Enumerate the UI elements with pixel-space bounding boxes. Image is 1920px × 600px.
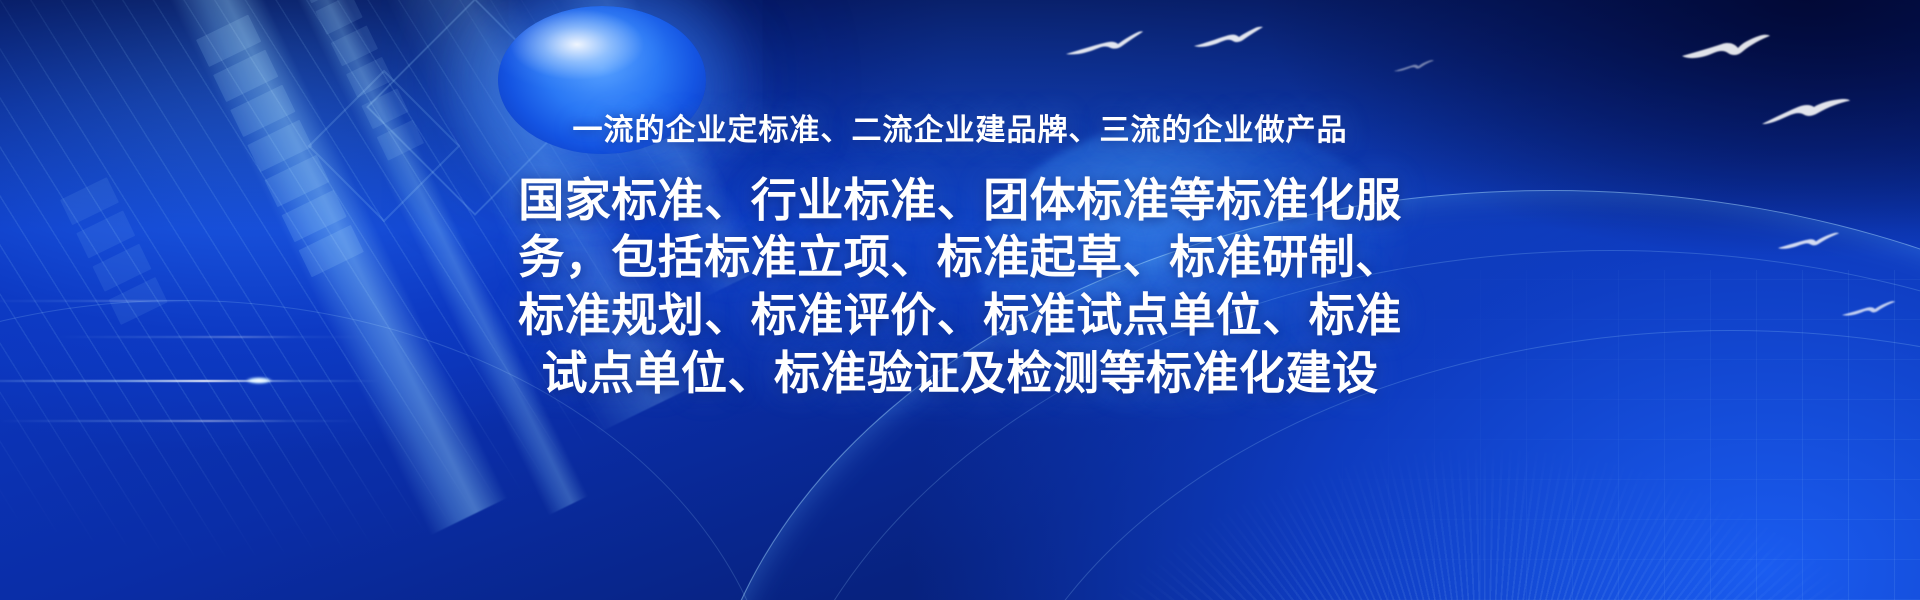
banner-text-block: 一流的企业定标准、二流企业建品牌、三流的企业做产品 国家标准、行业标准、团体标准… [0, 0, 1920, 600]
promo-banner: 一流的企业定标准、二流企业建品牌、三流的企业做产品 国家标准、行业标准、团体标准… [0, 0, 1920, 600]
subhead-text: 国家标准、行业标准、团体标准等标准化服 务，包括标准立项、标准起草、标准研制、 … [440, 172, 1480, 404]
headline-text: 一流的企业定标准、二流企业建品牌、三流的企业做产品 [573, 112, 1348, 150]
subhead-line: 标准规划、标准评价、标准试点单位、标准 [440, 287, 1480, 345]
subhead-line: 务，包括标准立项、标准起草、标准研制、 [440, 229, 1480, 287]
subhead-line: 试点单位、标准验证及检测等标准化建设 [440, 345, 1480, 403]
subhead-line: 国家标准、行业标准、团体标准等标准化服 [440, 172, 1480, 230]
